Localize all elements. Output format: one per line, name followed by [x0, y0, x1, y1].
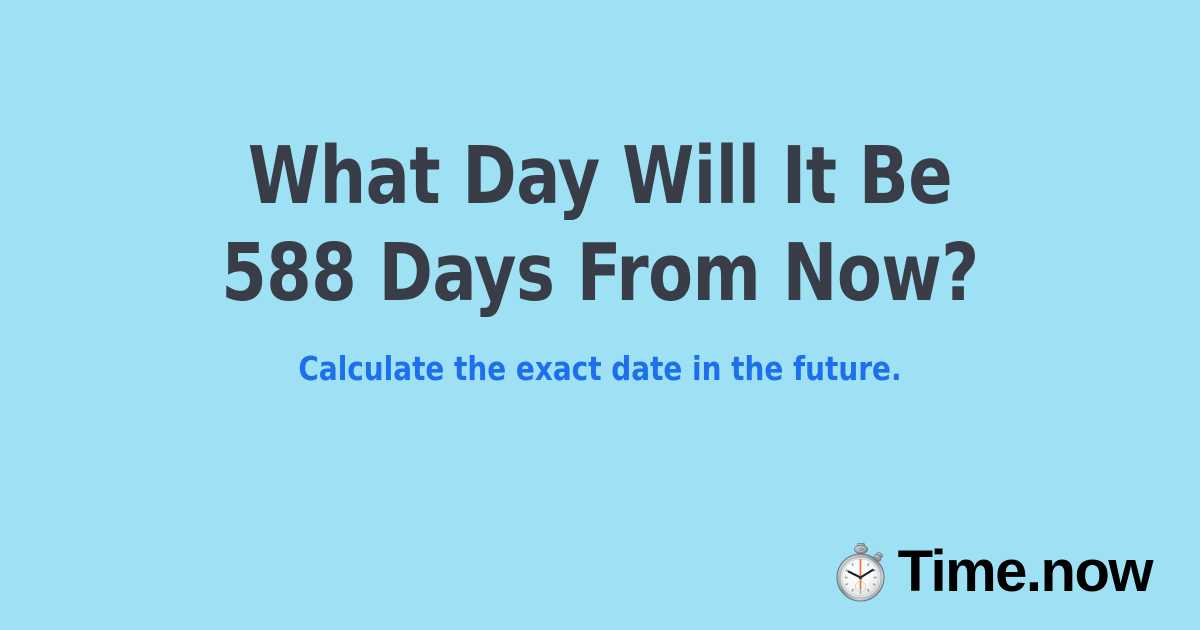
og-card: What Day Will It Be 588 Days From Now? C…	[0, 0, 1200, 630]
brand-logo[interactable]: Time.now	[834, 542, 1152, 602]
headline-line-2: 588 Days From Now?	[48, 225, 1152, 322]
subtitle-text: Calculate the exact date in the future.	[36, 349, 1164, 389]
page-subtitle: Calculate the exact date in the future.	[0, 349, 1200, 389]
page-title: What Day Will It Be 588 Days From Now?	[0, 128, 1200, 322]
brand-name-label: Time.now	[898, 542, 1152, 602]
stopwatch-icon	[834, 542, 888, 602]
headline-line-1: What Day Will It Be	[48, 128, 1152, 225]
